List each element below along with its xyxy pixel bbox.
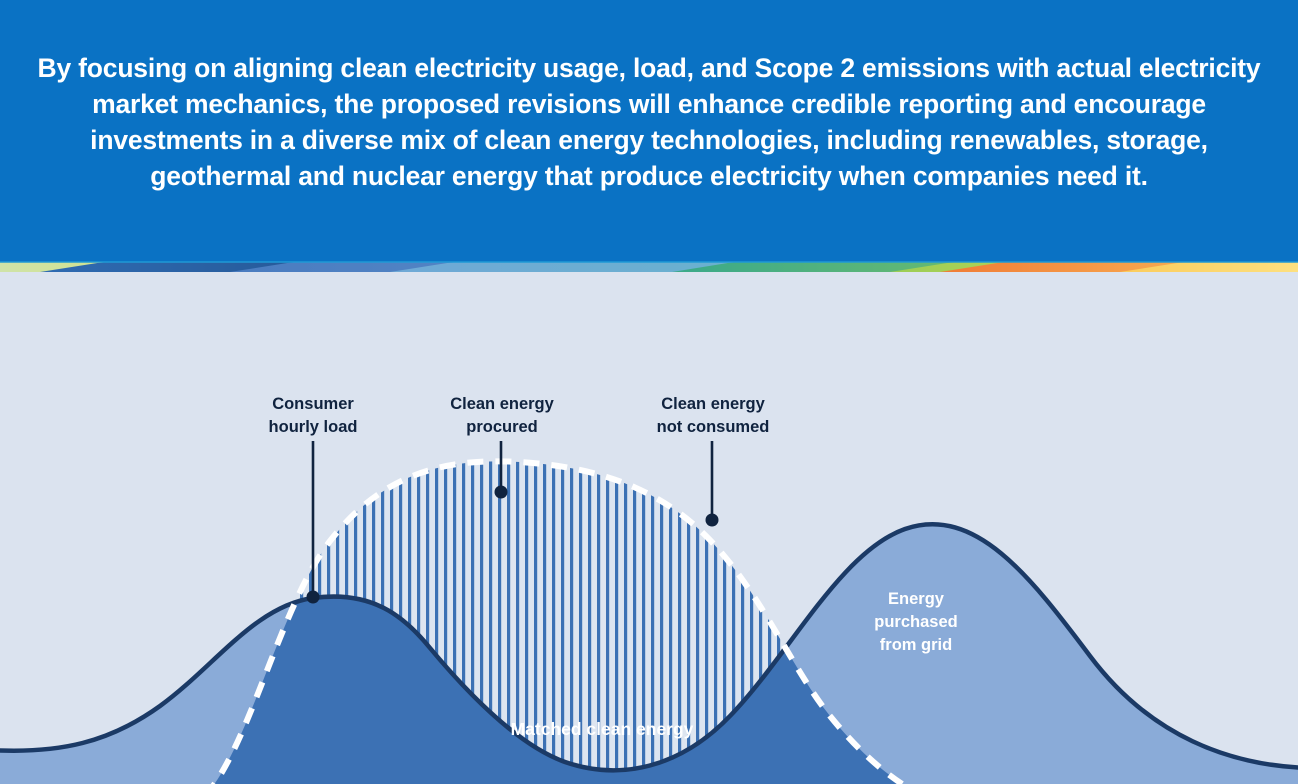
callout-line-2: hourly load — [232, 416, 394, 439]
band-segments — [0, 256, 1298, 272]
energy-matching-chart — [0, 276, 1298, 784]
callout-line-1: Clean energy — [620, 393, 806, 416]
area-label-line-3: from grid — [880, 636, 952, 654]
callout-line-2: not consumed — [620, 416, 806, 439]
callout-line-1: Clean energy — [421, 393, 583, 416]
area-label-energy-purchased-from-grid: Energy purchased from grid — [846, 588, 986, 657]
callout-line-1: Consumer — [232, 393, 394, 416]
callout-line-2: procured — [421, 416, 583, 439]
callout-consumer-hourly-load: Consumer hourly load — [232, 393, 394, 439]
area-label-text: Matched clean energy — [511, 719, 694, 739]
callout-clean-energy-procured: Clean energy procured — [421, 393, 583, 439]
header-paragraph: By focusing on aligning clean electricit… — [28, 50, 1270, 194]
area-label-line-1: Energy — [888, 590, 944, 608]
decorative-color-band — [0, 256, 1298, 276]
area-label-line-2: purchased — [874, 613, 957, 631]
infographic-page: By focusing on aligning clean electricit… — [0, 0, 1298, 784]
header-banner: By focusing on aligning clean electricit… — [0, 0, 1298, 258]
callout-clean-energy-not-consumed: Clean energy not consumed — [620, 393, 806, 439]
area-label-matched-clean-energy: Matched clean energy — [452, 718, 752, 741]
